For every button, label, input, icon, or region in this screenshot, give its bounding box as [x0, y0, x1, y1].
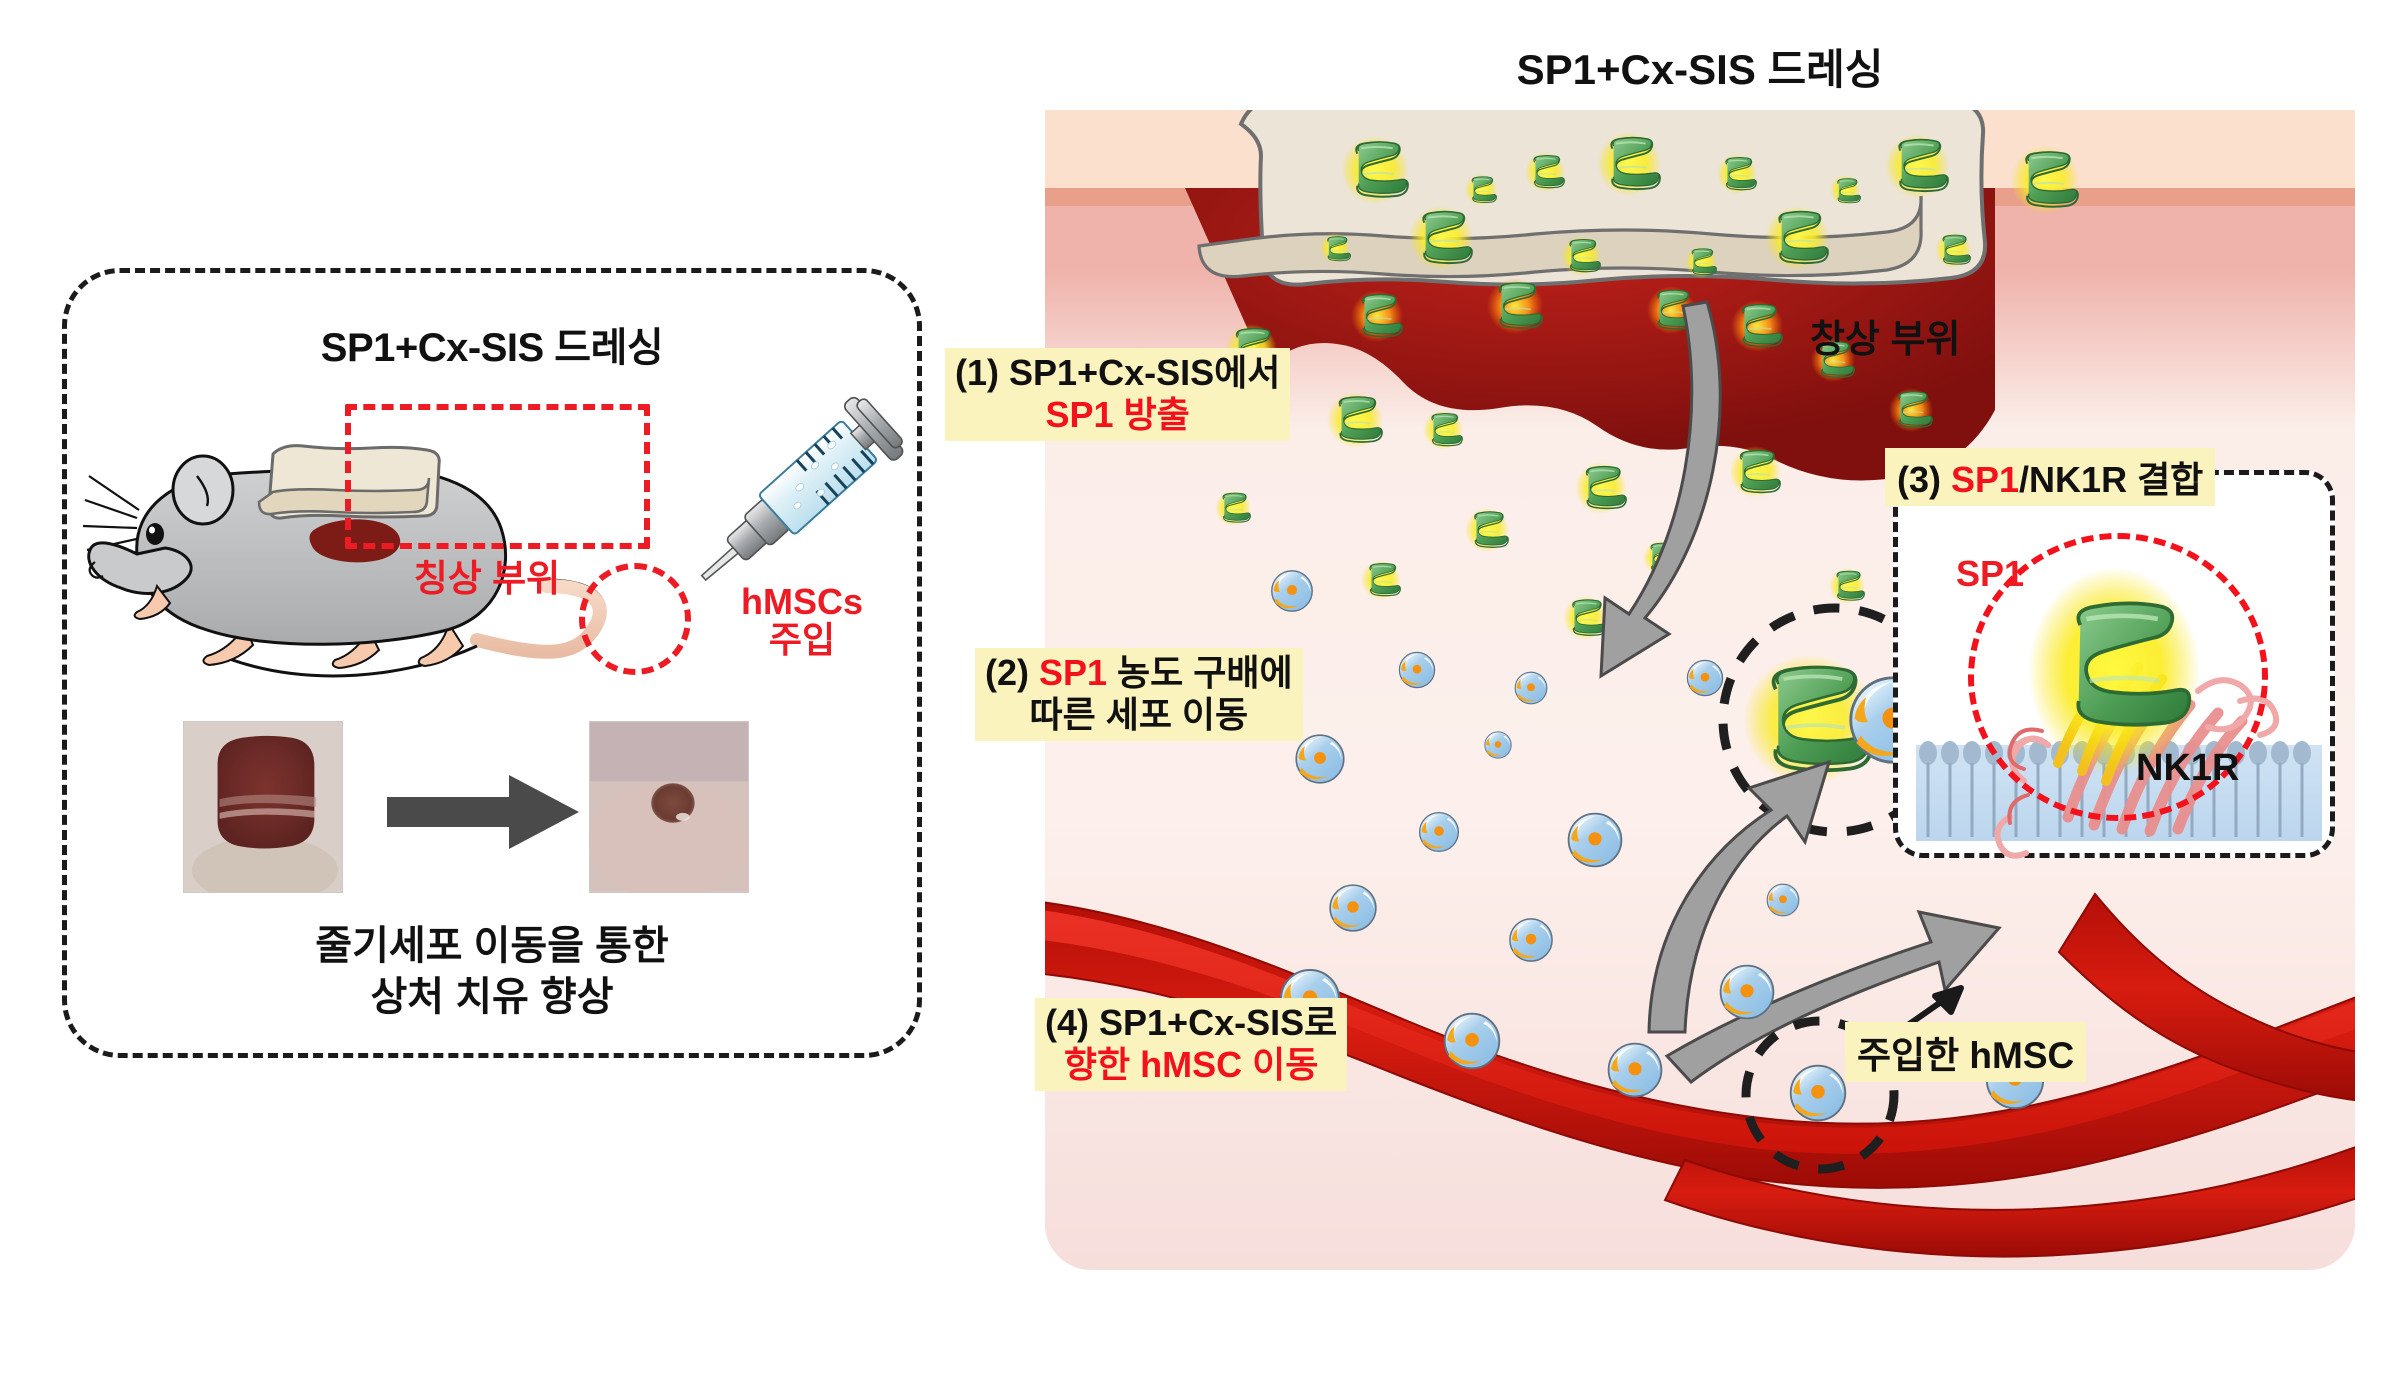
step-2-suffix: 농도 구배에: [1107, 652, 1293, 693]
step-1-line1: (1) SP1+Cx-SIS에서: [955, 352, 1280, 394]
wound-healing-photos: [67, 721, 927, 901]
sp1-nk1r-binding-inset: SP1 NK1R: [1893, 470, 2335, 858]
inset-sp1-label: SP1: [1956, 553, 2024, 595]
wound-photo-before: [183, 721, 343, 893]
step-2-sp1: SP1: [1039, 652, 1107, 693]
wound-region-dashed-box: [345, 404, 650, 549]
step-2-callout: (2) SP1 농도 구배에 따른 세포 이동: [975, 648, 1303, 741]
inset-nk1r-label: NK1R: [2136, 747, 2239, 790]
left-panel-caption: 줄기세포 이동을 통한 상처 치유 향상: [67, 921, 917, 1023]
hmsc-injection-label: hMSCs 주입: [697, 583, 907, 659]
hmsc-injection-line1: hMSCs: [697, 583, 907, 621]
step-4-line1: (4) SP1+Cx-SIS로: [1045, 1002, 1337, 1044]
step-2-prefix: (2): [985, 652, 1039, 693]
injected-hmsc-label: 주입한 hMSC: [1845, 1022, 2086, 1082]
inset-title-suffix: /NK1R 결합: [2019, 459, 2203, 500]
hmsc-injection-line2: 주입: [697, 621, 907, 659]
step-1-line2: SP1 방출: [955, 394, 1280, 436]
wound-site-label: 창상 부위: [1810, 308, 1960, 363]
arrow-icon: [387, 775, 579, 849]
inset-title-sp1: SP1: [1951, 459, 2019, 500]
wound-photo-after: [589, 721, 749, 893]
inset-title-prefix: (3): [1897, 459, 1951, 500]
step-4-line2: 향한 hMSC 이동: [1045, 1044, 1337, 1086]
caption-line-2: 상처 치유 향상: [67, 972, 917, 1023]
left-panel: SP1+Cx-SIS 드레싱: [62, 268, 922, 1058]
inset-title: (3) SP1/NK1R 결합: [1885, 448, 2215, 506]
step-2-line2: 따른 세포 이동: [985, 694, 1293, 736]
right-panel-title: SP1+Cx-SIS 드레싱: [1045, 36, 2355, 97]
step-1-callout: (1) SP1+Cx-SIS에서 SP1 방출: [945, 348, 1290, 441]
caption-line-1: 줄기세포 이동을 통한: [67, 921, 917, 972]
diagram-canvas: SP1+Cx-SIS 드레싱: [0, 0, 2400, 1377]
step-4-callout: (4) SP1+Cx-SIS로 향한 hMSC 이동: [1035, 998, 1347, 1091]
mouse-illustration-scene: 칭상 부위: [67, 358, 927, 688]
step-2-line1: (2) SP1 농도 구배에: [985, 652, 1293, 694]
